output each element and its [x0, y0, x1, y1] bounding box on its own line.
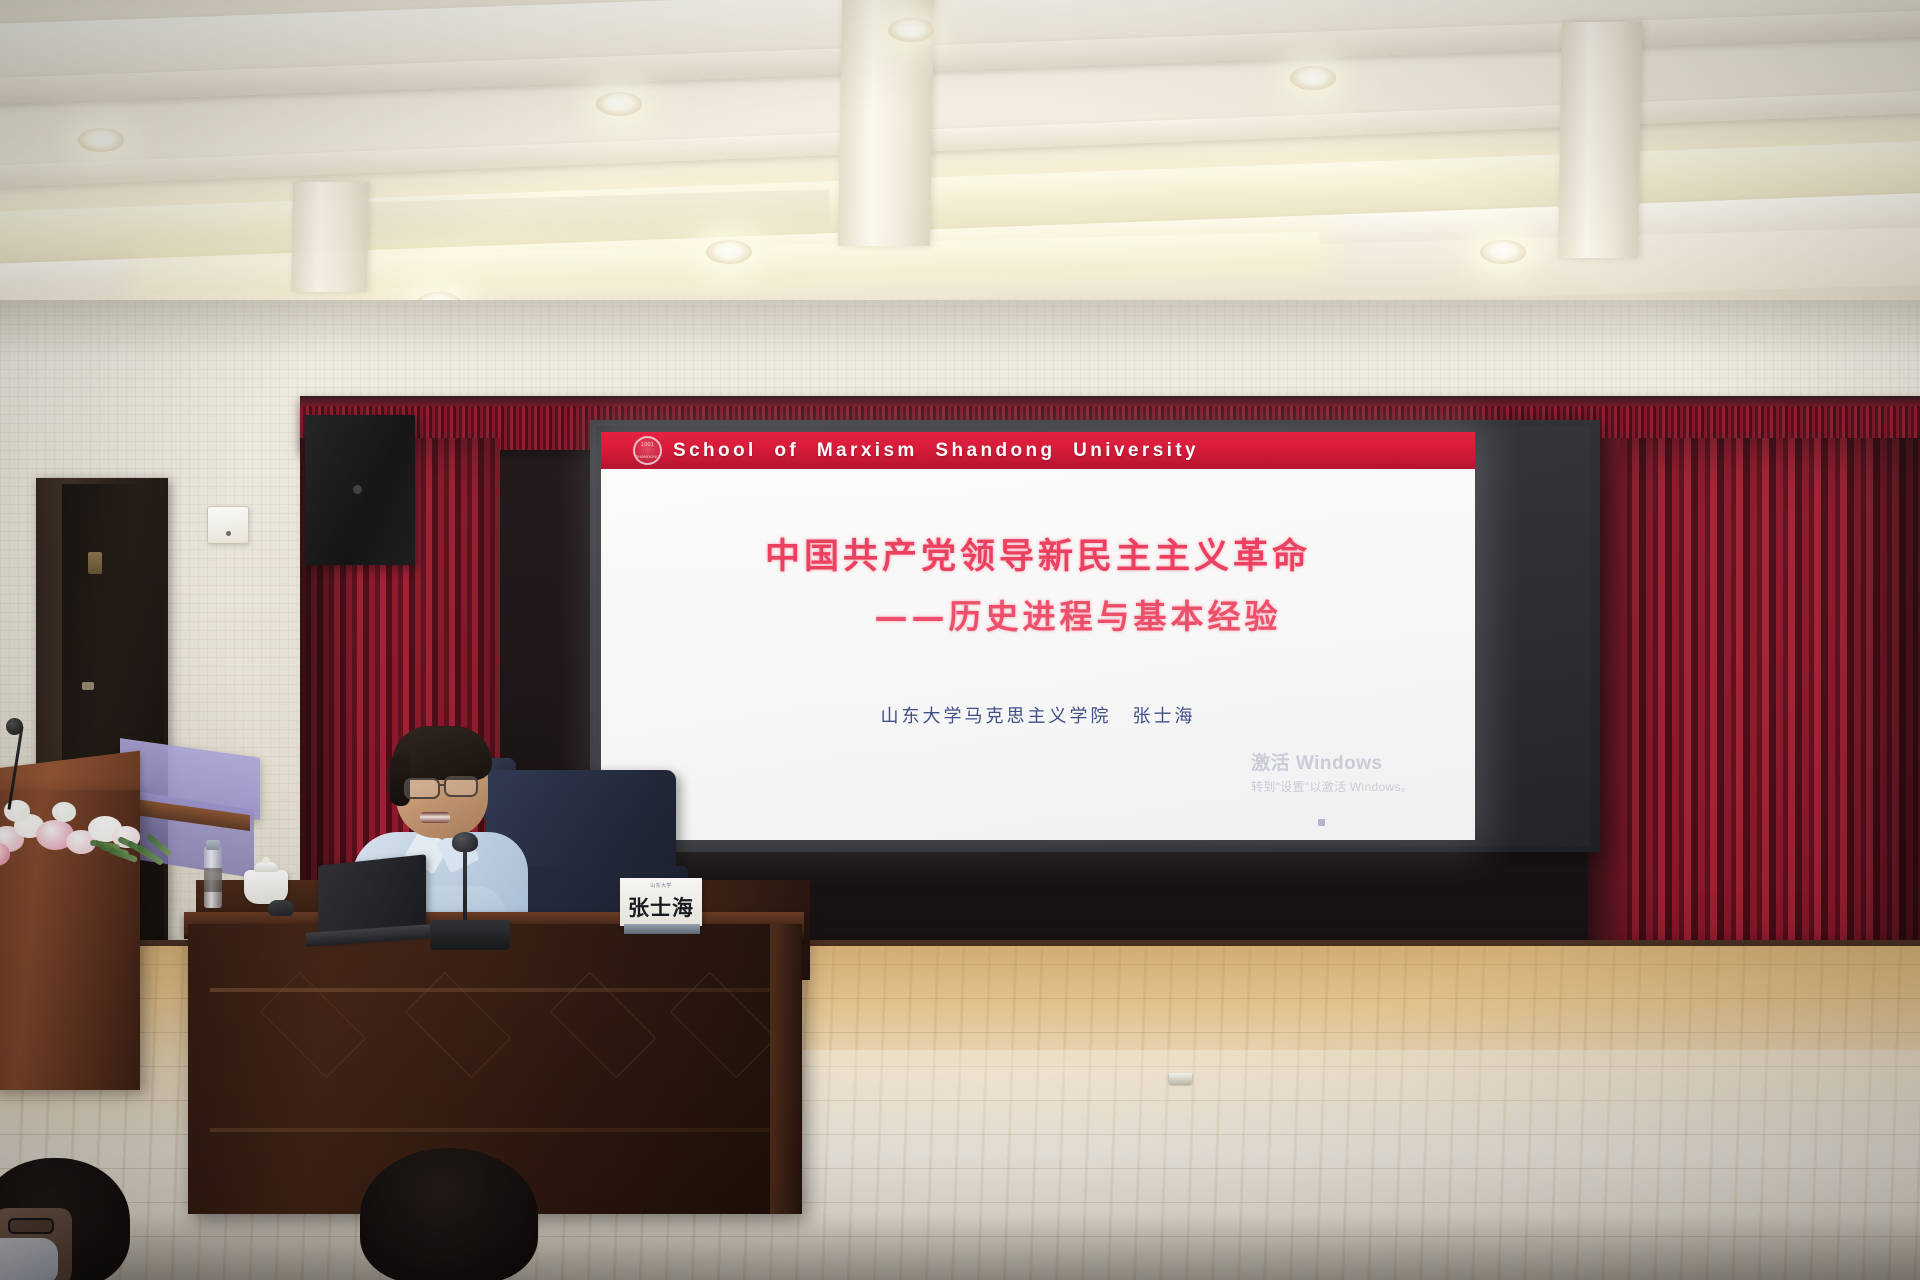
ceiling-downlight [888, 18, 934, 42]
ceiling-downlight [78, 128, 124, 152]
door-handle[interactable] [82, 682, 94, 690]
ceiling [0, 0, 1920, 340]
podium-microphone [6, 718, 23, 735]
ceiling-downlight [596, 92, 642, 116]
wall-speaker [305, 415, 415, 565]
slide-author-line: 山东大学马克思主义学院 张士海 [601, 702, 1475, 728]
ceiling-downlight [706, 240, 752, 264]
desk-microphone-base [430, 920, 510, 950]
ceiling-beam-vertical [291, 182, 369, 292]
presenter-glasses-bridge [438, 784, 446, 786]
watermark-line-2: 转到"设置"以激活 Windows。 [1251, 778, 1413, 796]
bottle-cap [206, 840, 220, 850]
wall-thermostat-panel[interactable] [207, 506, 249, 544]
ceiling-beam-vertical [1558, 22, 1642, 258]
presenter-glasses-icon [404, 778, 440, 799]
seal-year: 1901 [635, 442, 660, 448]
desk-microphone [452, 832, 478, 852]
name-plate-name: 张士海 [620, 892, 702, 922]
curtain-rail [300, 396, 1920, 406]
mouse-cursor-icon [1318, 819, 1325, 826]
presenter-mouth [420, 812, 450, 823]
bottle-label [204, 868, 222, 892]
attendee-left-face-mask [0, 1238, 58, 1280]
name-plate: 山东大学 张士海 [620, 878, 702, 926]
teapot [244, 870, 288, 904]
desk-side-panel [770, 924, 802, 1214]
watermark-line-1: 激活 Windows [1251, 750, 1413, 779]
ceiling-downlight [1290, 66, 1336, 90]
desk-trim-rail [210, 1128, 780, 1132]
computer-mouse[interactable] [268, 900, 294, 916]
presenter-glasses-icon [444, 776, 478, 797]
podium-flower-arrangement [0, 780, 210, 870]
ceiling-downlight [1480, 240, 1526, 264]
flower-blossom [52, 802, 76, 822]
slide-subtitle: ——历史进程与基本经验 [601, 590, 1475, 638]
teapot-knob [262, 857, 270, 864]
desk-trim-rail [210, 988, 780, 992]
slide-title: 中国共产党领导新民主主义革命 [601, 528, 1475, 579]
curtain-shadow [1830, 438, 1920, 966]
slide-banner-text: School of Marxism Shandong University [673, 432, 1199, 469]
windows-activation-watermark: 激活 Windows 转到"设置"以激活 Windows。 [1251, 750, 1413, 797]
wall-top-shadow [0, 300, 1920, 360]
name-plate-stand [624, 924, 700, 934]
seal-name: SHANDONG [635, 454, 660, 459]
slide-banner: 1901 SHANDONG School of Marxism Shandong… [601, 432, 1475, 469]
attendee-left-glasses-icon [8, 1218, 54, 1234]
presentation-slide[interactable]: 1901 SHANDONG School of Marxism Shandong… [601, 432, 1475, 840]
door-hinge-icon [88, 552, 102, 574]
attendee-right-head [360, 1148, 538, 1280]
floor-cable-outlet [1169, 1073, 1192, 1084]
university-seal-icon: 1901 SHANDONG [633, 436, 662, 465]
lecture-hall-scene: 1901 SHANDONG School of Marxism Shandong… [0, 0, 1920, 1280]
name-plate-logo: 山东大学 [620, 882, 702, 889]
foreground-shadow [0, 1214, 1920, 1280]
